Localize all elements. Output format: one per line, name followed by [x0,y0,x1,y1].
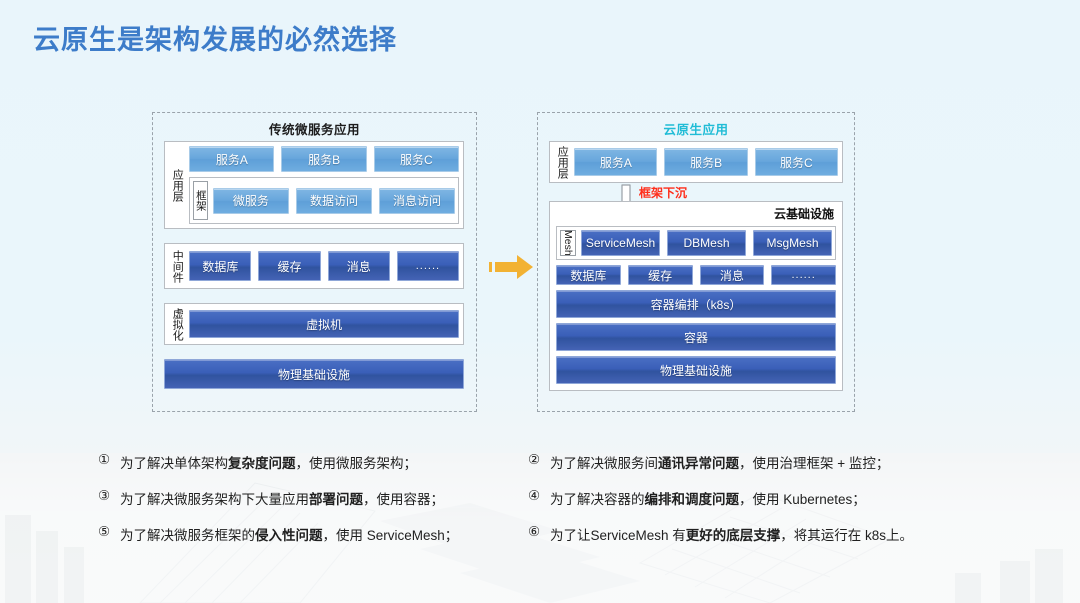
db-mesh-chip[interactable]: DBMesh [667,230,746,256]
panel-cloud-native: 云原生应用 应用层 服务A 服务B 服务C 框架下沉 云基础设施 Mesh Se… [537,112,855,412]
cloud-service-b-chip[interactable]: 服务B [664,148,747,176]
framework-sink-label: 框架下沉 [639,184,687,201]
cloud-middleware-database-chip[interactable]: 数据库 [556,265,621,285]
cloud-application-layer-label: 应用层 [554,144,569,180]
virtualization-label: 虚拟化 [169,306,184,342]
service-b-chip[interactable]: 服务B [281,146,366,172]
framework-data-access-chip[interactable]: 数据访问 [296,188,372,214]
cloud-service-c-chip[interactable]: 服务C [755,148,838,176]
bullet-number: ⑥ [528,524,550,540]
services-row: 服务A 服务B 服务C [189,146,459,172]
bullet-item: ④ 为了解决容器的编排和调度问题，使用 Kubernetes； [528,488,968,524]
cloud-infrastructure-group: 云基础设施 Mesh ServiceMesh DBMesh MsgMesh 数据… [549,201,843,391]
bullet-text: 为了解决微服务框架的侵入性问题，使用 ServiceMesh； [120,524,528,544]
bullet-text: 为了解决单体架构复杂度问题，使用微服务架构； [120,452,528,472]
framework-label: 框架 [193,181,208,220]
cloud-service-a-chip[interactable]: 服务A [574,148,657,176]
page-title: 云原生是架构发展的必然选择 [33,18,397,57]
bullet-text: 为了解决微服务架构下大量应用部署问题，使用容器； [120,488,528,508]
transition-arrow-icon [487,252,535,282]
bullet-item: ③ 为了解决微服务架构下大量应用部署问题，使用容器； [98,488,528,524]
service-c-chip[interactable]: 服务C [374,146,459,172]
mesh-items-row: ServiceMesh DBMesh MsgMesh [581,230,832,256]
middleware-label: 中间件 [169,246,184,286]
bullets-left-column: ① 为了解决单体架构复杂度问题，使用微服务架构； ③ 为了解决微服务架构下大量应… [98,452,528,560]
bullets-right-column: ② 为了解决微服务间通讯异常问题，使用治理框架 + 监控； ④ 为了解决容器的编… [528,452,968,560]
middleware-group: 中间件 数据库 缓存 消息 ...... [164,243,464,289]
mesh-group: Mesh ServiceMesh DBMesh MsgMesh [556,226,836,260]
cloud-services-row: 服务A 服务B 服务C [574,148,838,176]
cloud-application-layer-group: 应用层 服务A 服务B 服务C [549,141,843,183]
mesh-label: Mesh [560,230,576,256]
bullet-text: 为了让ServiceMesh 有更好的底层支撑，将其运行在 k8s上。 [550,524,968,544]
middleware-more-chip[interactable]: ...... [397,251,459,281]
bullet-item: ⑤ 为了解决微服务框架的侵入性问题，使用 ServiceMesh； [98,524,528,560]
cloud-infrastructure-caption: 云基础设施 [774,205,834,222]
cloud-middleware-message-chip[interactable]: 消息 [700,265,765,285]
container-orchestration-chip[interactable]: 容器编排（k8s） [556,290,836,318]
bullet-item: ② 为了解决微服务间通讯异常问题，使用治理框架 + 监控； [528,452,968,488]
virtualization-group: 虚拟化 虚拟机 [164,303,464,345]
service-mesh-chip[interactable]: ServiceMesh [581,230,660,256]
bullet-number: ④ [528,488,550,504]
container-chip[interactable]: 容器 [556,323,836,351]
virtual-machine-chip[interactable]: 虚拟机 [189,310,459,338]
framework-message-access-chip[interactable]: 消息访问 [379,188,455,214]
msg-mesh-chip[interactable]: MsgMesh [753,230,832,256]
bullet-number: ⑤ [98,524,120,540]
bullet-number: ② [528,452,550,468]
service-a-chip[interactable]: 服务A [189,146,274,172]
framework-items-row: 微服务 数据访问 消息访问 [213,188,455,214]
bullet-text: 为了解决微服务间通讯异常问题，使用治理框架 + 监控； [550,452,968,472]
cloud-middleware-row: 数据库 缓存 消息 ...... [556,265,836,285]
framework-group: 框架 微服务 数据访问 消息访问 [189,177,459,224]
middleware-cache-chip[interactable]: 缓存 [258,251,320,281]
bullet-item: ① 为了解决单体架构复杂度问题，使用微服务架构； [98,452,528,488]
bullet-number: ① [98,452,120,468]
bullet-item: ⑥ 为了让ServiceMesh 有更好的底层支撑，将其运行在 k8s上。 [528,524,968,560]
cloud-middleware-more-chip[interactable]: ...... [771,265,836,285]
bullet-text: 为了解决容器的编排和调度问题，使用 Kubernetes； [550,488,968,508]
middleware-database-chip[interactable]: 数据库 [189,251,251,281]
cloud-middleware-cache-chip[interactable]: 缓存 [628,265,693,285]
bullet-number: ③ [98,488,120,504]
framework-microservice-chip[interactable]: 微服务 [213,188,289,214]
panel-traditional-microservice: 传统微服务应用 应用层 服务A 服务B 服务C 框架 微服务 数据访问 消息访问… [152,112,477,412]
panel-right-title: 云原生应用 [538,119,854,138]
middleware-message-chip[interactable]: 消息 [328,251,390,281]
cloud-physical-infrastructure-chip[interactable]: 物理基础设施 [556,356,836,384]
application-layer-group: 应用层 服务A 服务B 服务C 框架 微服务 数据访问 消息访问 [164,141,464,229]
application-layer-label: 应用层 [169,148,184,222]
physical-infrastructure-chip[interactable]: 物理基础设施 [164,359,464,389]
panel-left-title: 传统微服务应用 [153,119,476,138]
middleware-items-row: 数据库 缓存 消息 ...... [189,251,459,281]
